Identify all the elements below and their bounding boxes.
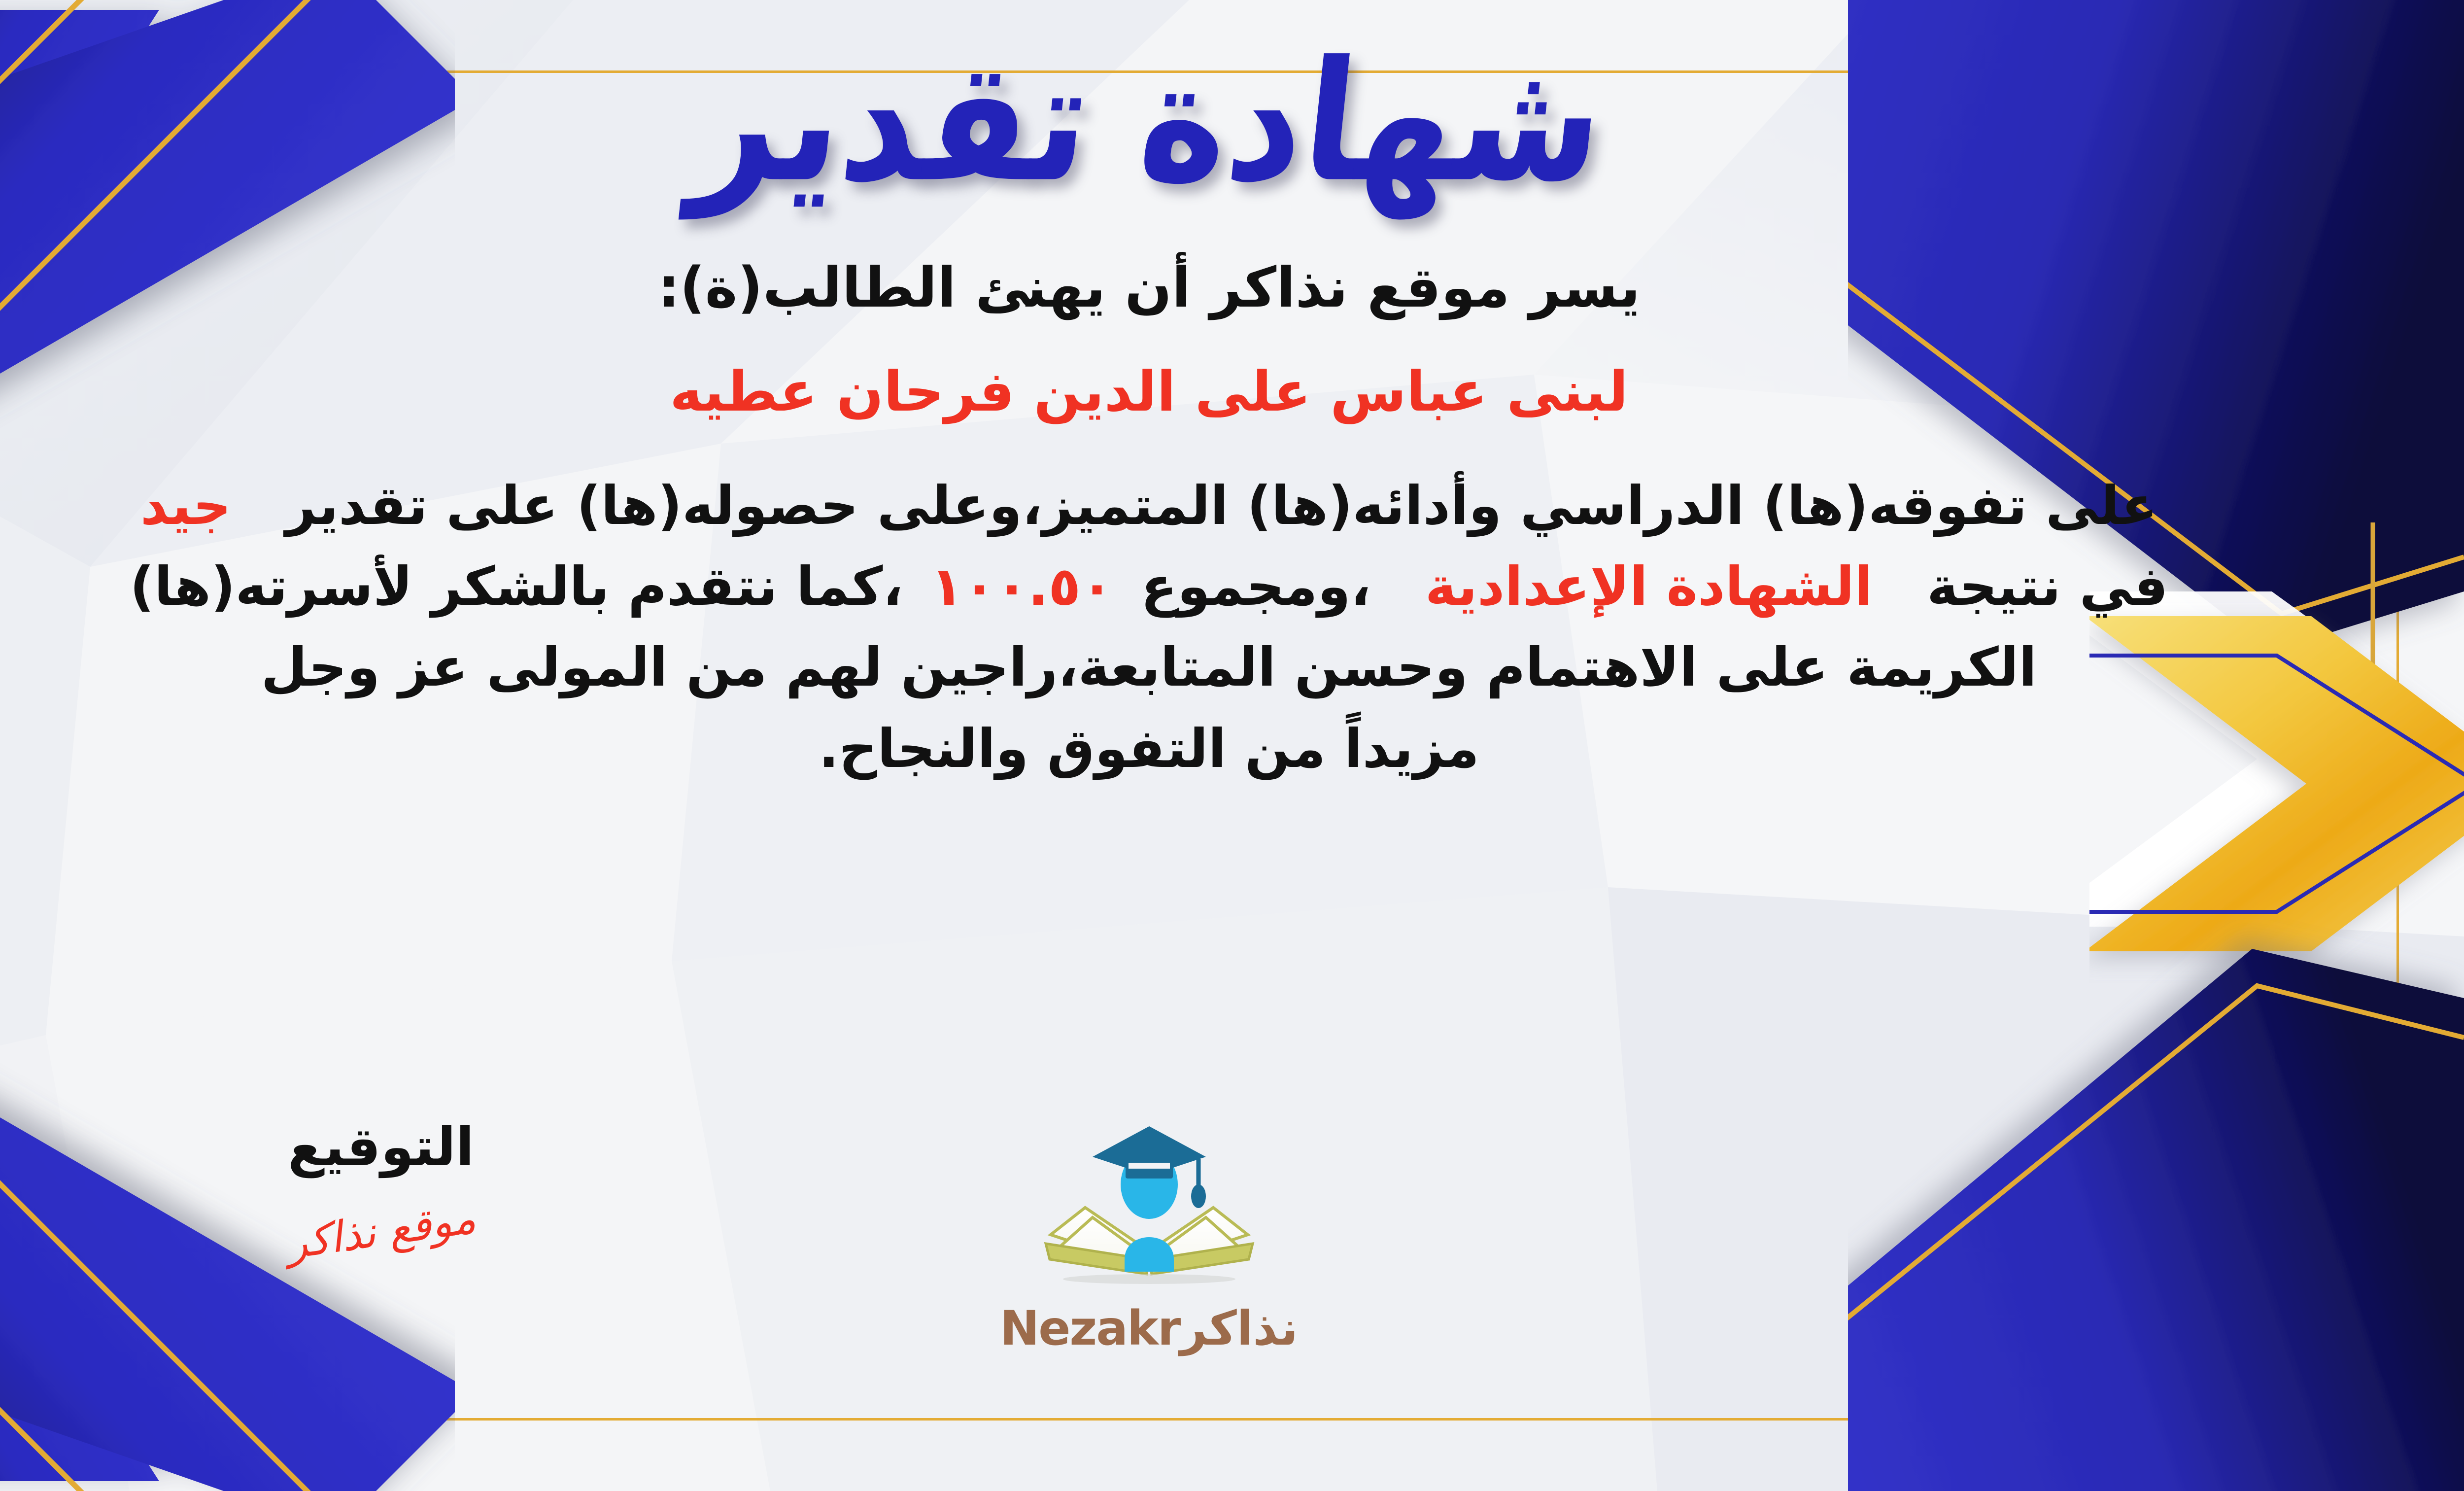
- graduate-book-icon: [1021, 1111, 1277, 1299]
- achievement-text-a: على تفوقه(ها) الدراسي وأدائه(ها) المتميز…: [285, 475, 2157, 537]
- achievement-line-2: في نتيجةالشهادة الإعدادية،ومجموع١٠٠.٥٠،ك…: [0, 547, 2369, 627]
- achievement-paragraph: على تفوقه(ها) الدراسي وأدائه(ها) المتميز…: [0, 466, 2369, 790]
- certificate-page: شهادة تقدير يسر موقع نذاكر أن يهنئ الطال…: [0, 0, 2464, 1491]
- brand-logo-text: نذاكرNezakr: [962, 1301, 1336, 1356]
- certificate-body: يسر موقع نذاكر أن يهنئ الطالب(ة): لبنى ع…: [0, 219, 2369, 790]
- certificate-footer: التوقيع موقع نذاكر: [0, 1116, 2464, 1392]
- signature-label: التوقيع: [223, 1116, 539, 1178]
- thanks-text: ،كما نتقدم بالشكر لأسرته(ها): [130, 556, 903, 618]
- grade-value: جيد: [140, 475, 231, 537]
- student-name: لبنى عباس على الدين فرحان عطيه: [0, 353, 2369, 431]
- achievement-line-3: الكريمة على الاهتمام وحسن المتابعة،راجين…: [0, 627, 2369, 708]
- brand-name-ar: نذاكر: [1180, 1301, 1298, 1356]
- page-title: شهادة تقدير: [686, 35, 1612, 209]
- greeting-line: يسر موقع نذاكر أن يهنئ الطالب(ة):: [0, 249, 2369, 327]
- brand-logo: نذاكرNezakr: [962, 1111, 1336, 1356]
- result-prefix: في نتيجة: [1927, 556, 2168, 618]
- signature-mark: موقع نذاكر: [283, 1194, 479, 1269]
- total-score: ١٠٠.٥٠: [930, 556, 1113, 618]
- signature-block: التوقيع موقع نذاكر: [223, 1116, 539, 1256]
- achievement-line-1: على تفوقه(ها) الدراسي وأدائه(ها) المتميز…: [0, 466, 2369, 547]
- total-label: ،ومجموع: [1141, 556, 1371, 618]
- achievement-line-4: مزيداً من التفوق والنجاح.: [0, 709, 2369, 790]
- exam-name: الشهادة الإعدادية: [1425, 556, 1873, 618]
- brand-name-en: Nezakr: [1000, 1301, 1180, 1356]
